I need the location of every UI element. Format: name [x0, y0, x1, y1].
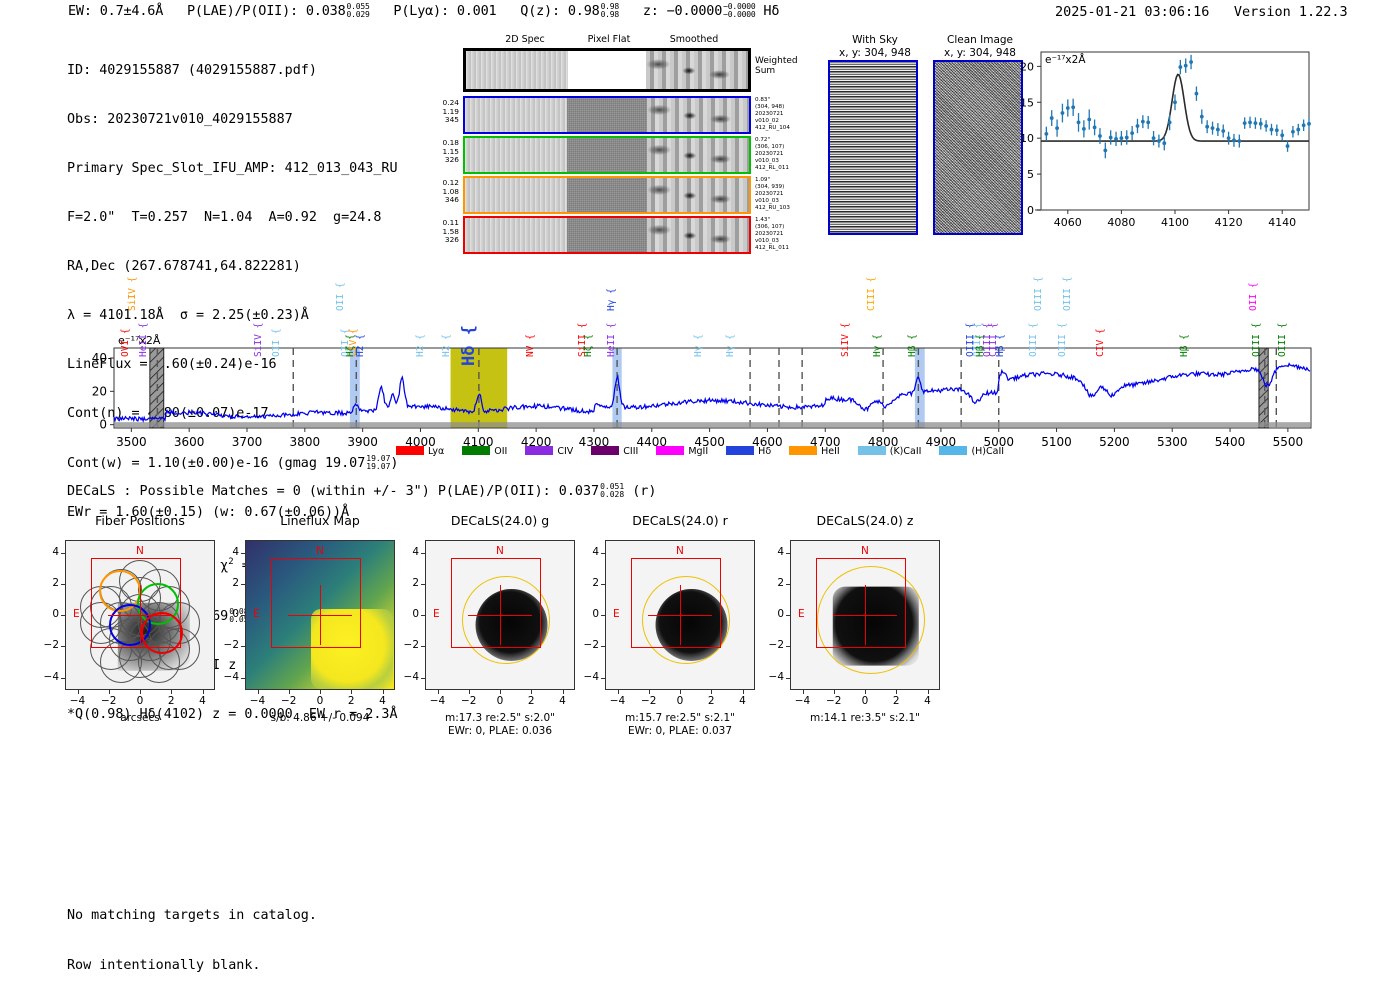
decals-header-band: (r): [632, 484, 656, 499]
with-sky-caption: With Skyx, y: 304, 948: [820, 34, 930, 59]
legend-label: HeII: [821, 446, 840, 457]
header-plae-value: 0.038: [306, 3, 346, 19]
y-tick-label: −2: [758, 639, 784, 651]
imaging-panel-title: DECaLS(24.0) z: [770, 513, 960, 528]
emission-line-label: OIII {: [1028, 323, 1039, 357]
x-tick-label: 2: [882, 695, 910, 707]
y-tick-label: 2: [758, 577, 784, 589]
x-tick-mark: [928, 690, 929, 694]
fiber-row: [463, 216, 751, 254]
y-tick-mark: [241, 615, 245, 616]
linefit-ytick: 20: [1020, 60, 1034, 73]
linefit-xtick: 4060: [1054, 216, 1082, 229]
emission-line-label: CIV {: [1095, 328, 1106, 357]
compass-east-label: E: [613, 608, 620, 620]
x-tick-mark: [320, 690, 321, 694]
legend-label: Lyα: [428, 446, 444, 457]
crosshair-center: [491, 606, 509, 624]
full-spectrum-plot: 0204035003600370038003900400041004200430…: [114, 280, 1311, 468]
decals-plae-bounds: 0.0510.028: [600, 483, 624, 499]
y-tick-mark: [601, 584, 605, 585]
x-tick-mark: [258, 690, 259, 694]
info-obs: Obs: 20230721v010_4029155887: [67, 112, 398, 128]
x-tick-mark: [618, 690, 619, 694]
header-z-value: −0.0000: [667, 3, 723, 19]
y-tick-label: 0: [213, 608, 239, 620]
legend-item: (K)CaII: [858, 446, 922, 457]
linefit-ytick: 0: [1027, 204, 1034, 217]
y-tick-label: 2: [393, 577, 419, 589]
fiber-row-meta: 0.72" (306, 107) 20230721 v010_03 412_RL…: [755, 137, 789, 172]
linefit-ytick: 10: [1020, 132, 1034, 145]
y-tick-mark: [421, 615, 425, 616]
x-tick-label: 0: [666, 695, 694, 707]
y-tick-mark: [61, 678, 65, 679]
header-qz-label: Q(z):: [520, 3, 560, 19]
legend-swatch: [939, 446, 967, 455]
header-z-bounds: −0.0000−0.0000: [723, 3, 755, 19]
timestamp: 2025-01-21 03:06:16: [1055, 4, 1209, 20]
fiber-row-meta: 0.83" (304, 948) 20230721 v010_02 412_RU…: [755, 97, 790, 132]
fiber-pixelflat-image: [567, 178, 647, 212]
y-tick-label: −2: [573, 639, 599, 651]
header-qz-value: 0.98: [568, 3, 600, 19]
compass-east-label: E: [73, 608, 80, 620]
x-tick-label: 2: [697, 695, 725, 707]
x-tick-label: 4: [729, 695, 757, 707]
ifu-footprint-box: [816, 558, 906, 648]
x-tick-label: 0: [306, 695, 334, 707]
legend-swatch: [789, 446, 817, 455]
ifu-footprint-box: [451, 558, 541, 648]
emission-line-label: CIII {: [866, 277, 877, 311]
legend-item: CIV: [525, 446, 573, 457]
header-timestamp-block: 2025-01-21 03:06:16 Version 1.22.3: [1055, 4, 1348, 20]
linefit-xtick: 4140: [1268, 216, 1296, 229]
x-tick-label: 0: [486, 695, 514, 707]
emission-line-label: Hβ {: [995, 334, 1006, 357]
compass-north-label: N: [316, 545, 324, 557]
masked-band: [1259, 348, 1268, 428]
x-tick-label: −2: [635, 695, 663, 707]
legend-swatch: [656, 446, 684, 455]
y-tick-label: −2: [393, 639, 419, 651]
x-tick-mark: [351, 690, 352, 694]
header-summary-line: EW: 0.7±4.6Å P(LAE)/P(OII): 0.0380.0550.…: [68, 3, 779, 19]
fiber-2dspec-image: [465, 178, 567, 212]
linefit-unit-label: e⁻¹⁷x2Å: [1045, 54, 1086, 66]
x-tick-label: 4: [914, 695, 942, 707]
fiber-row-values: 0.181.15326: [429, 139, 459, 165]
imaging-panel-title: Fiber Positions: [45, 513, 235, 528]
header-plae-bounds: 0.0550.029: [347, 3, 370, 19]
footer-note: No matching targets in catalog. Row inte…: [67, 875, 317, 991]
y-tick-mark: [421, 678, 425, 679]
x-tick-label: 4: [549, 695, 577, 707]
y-tick-label: 4: [393, 546, 419, 558]
y-tick-mark: [421, 553, 425, 554]
x-tick-label: 4: [369, 695, 397, 707]
y-tick-label: −2: [33, 639, 59, 651]
spectrum-ytick: 20: [92, 384, 107, 398]
x-tick-label: −4: [604, 695, 632, 707]
emission-line-label: OII {: [271, 328, 282, 357]
y-tick-mark: [61, 615, 65, 616]
y-tick-mark: [61, 584, 65, 585]
imaging-panel-title: Lineflux Map: [225, 513, 415, 528]
info-primary-spec: Primary Spec_Slot_IFU_AMP: 412_013_043_R…: [67, 161, 398, 177]
x-tick-label: 4: [189, 695, 217, 707]
emission-line-label: NV {: [525, 334, 536, 357]
emission-line-label: Hζ {: [583, 334, 594, 357]
emission-line-label: Hγ {: [693, 334, 704, 357]
legend-swatch: [726, 446, 754, 455]
x-tick-label: −2: [275, 695, 303, 707]
emission-line-label: H2 {: [441, 334, 452, 357]
y-tick-label: 4: [213, 546, 239, 558]
x-tick-mark: [649, 690, 650, 694]
emission-line-label: Hζ {: [345, 334, 356, 357]
x-tick-mark: [171, 690, 172, 694]
emission-line-label: Hβ {: [1179, 334, 1190, 357]
y-tick-mark: [786, 553, 790, 554]
legend-swatch: [858, 446, 886, 455]
fiber-smoothed-image: [647, 98, 749, 132]
emission-line-label: OIII {: [1057, 323, 1068, 357]
emission-line-label: SiIV {: [840, 323, 851, 357]
header-qz-bounds: 0.980.98: [601, 3, 619, 19]
fiber-row-meta: 1.09" (304, 939) 20230721 v010_03 412_RU…: [755, 177, 790, 212]
emission-line-label: OIII {: [1062, 277, 1073, 311]
x-tick-mark: [680, 690, 681, 694]
compass-north-label: N: [496, 545, 504, 557]
y-tick-mark: [601, 646, 605, 647]
with-sky-image: [828, 60, 918, 235]
emission-line-label: SiIV {: [127, 277, 138, 311]
emission-line-label: H2 {: [415, 334, 426, 357]
crosshair-center: [671, 606, 689, 624]
legend-label: (H)CaII: [971, 446, 1004, 457]
fiber-2dspec-image: [465, 138, 567, 172]
legend-item: HeII: [789, 446, 840, 457]
x-tick-label: −4: [64, 695, 92, 707]
header-z-label: z:: [643, 3, 659, 19]
imaging-panel-caption-1: m:15.7 re:2.5" s:2.1": [580, 712, 780, 725]
emission-line-label: OII {: [335, 282, 346, 311]
footer-line-1: No matching targets in catalog.: [67, 908, 317, 925]
col-header-smoothed: Smoothed: [653, 34, 735, 45]
x-tick-mark: [563, 690, 564, 694]
y-tick-label: 4: [573, 546, 599, 558]
y-tick-mark: [786, 584, 790, 585]
spectrum-ytick: 40: [92, 351, 107, 365]
crosshair-center: [856, 606, 874, 624]
fiber-row-values: 0.241.19345: [429, 99, 459, 125]
x-tick-mark: [469, 690, 470, 694]
y-tick-label: 2: [213, 577, 239, 589]
error-band: [114, 422, 1311, 427]
x-tick-label: −2: [455, 695, 483, 707]
emission-line-label: Hγ {: [606, 288, 617, 311]
x-tick-label: −4: [244, 695, 272, 707]
y-tick-label: 0: [573, 608, 599, 620]
fiber-row-value: 326: [429, 236, 459, 245]
legend-label: OII: [494, 446, 507, 457]
col-header-pixelflat: Pixel Flat: [569, 34, 649, 45]
fiber-2dspec-image: [465, 218, 567, 252]
fiber-row: [463, 136, 751, 174]
x-tick-mark: [383, 690, 384, 694]
y-tick-mark: [241, 678, 245, 679]
y-tick-mark: [241, 584, 245, 585]
crosshair-center: [311, 606, 329, 624]
x-tick-mark: [865, 690, 866, 694]
decals-header: DECaLS : Possible Matches = 0 (within +/…: [67, 483, 656, 499]
footer-line-2: Row intentionally blank.: [67, 958, 317, 975]
emission-line-label: OIII {: [1033, 277, 1044, 311]
fiber-smoothed-image: [647, 178, 749, 212]
x-tick-label: −2: [820, 695, 848, 707]
legend-swatch: [396, 446, 424, 455]
x-tick-label: −4: [789, 695, 817, 707]
y-tick-mark: [786, 615, 790, 616]
compass-north-label: N: [136, 545, 144, 557]
y-tick-label: 4: [33, 546, 59, 558]
fiber-row-value: 346: [429, 196, 459, 205]
compass-north-label: N: [861, 545, 869, 557]
emission-line-label: Hβ {: [975, 334, 986, 357]
legend-swatch: [525, 446, 553, 455]
ifu-footprint-box: [91, 558, 181, 648]
emission-line-label: OII {: [1248, 282, 1259, 311]
y-tick-label: 0: [393, 608, 419, 620]
x-tick-mark: [803, 690, 804, 694]
imaging-panel-caption-2: EWr: 0, PLAE: 0.036: [400, 725, 600, 738]
fiber-row-values: 0.111.58326: [429, 219, 459, 245]
legend-item: CIII: [591, 446, 638, 457]
x-tick-mark: [109, 690, 110, 694]
imaging-panel-title: DECaLS(24.0) g: [405, 513, 595, 528]
legend-label: Hδ: [758, 446, 771, 457]
x-tick-mark: [531, 690, 532, 694]
imaging-panel-xlabel: arcsecs: [45, 712, 235, 725]
version-label: Version 1.22.3: [1234, 4, 1348, 20]
x-tick-label: 0: [851, 695, 879, 707]
x-tick-label: −4: [424, 695, 452, 707]
compass-east-label: E: [253, 608, 260, 620]
weighted-sum-strip: [463, 48, 751, 92]
y-tick-label: 4: [758, 546, 784, 558]
x-tick-mark: [743, 690, 744, 694]
x-tick-mark: [140, 690, 141, 694]
y-tick-label: −4: [33, 671, 59, 683]
emission-line-label: Hγ {: [872, 334, 883, 357]
x-tick-mark: [896, 690, 897, 694]
legend-item: OII: [462, 446, 507, 457]
header-plae-label: P(LAE)/P(OII):: [187, 3, 298, 19]
imaging-panel-title: DECaLS(24.0) r: [585, 513, 775, 528]
spectrum-legend: LyαOIICIVCIIIMgIIHδHeII(K)CaII(H)CaII: [0, 446, 1400, 457]
ifu-footprint-box: [631, 558, 721, 648]
legend-label: MgII: [688, 446, 708, 457]
emission-line-label: OIII {: [1251, 323, 1262, 357]
compass-east-label: E: [798, 608, 805, 620]
y-tick-mark: [421, 584, 425, 585]
imaging-panel-row: Fiber PositionsNE−4−2024−4−2024arcsecsLi…: [0, 505, 1400, 735]
x-tick-label: 2: [517, 695, 545, 707]
x-tick-mark: [78, 690, 79, 694]
fiber-row: [463, 176, 751, 214]
emission-line-label: H2 {: [355, 334, 366, 357]
legend-item: Lyα: [396, 446, 444, 457]
info-radec: RA,Dec (267.678741,64.822281): [67, 259, 398, 275]
fiber-row-value: 345: [429, 116, 459, 125]
x-tick-label: 0: [126, 695, 154, 707]
line-band: [350, 348, 360, 428]
x-tick-mark: [500, 690, 501, 694]
emission-line-label: Hβ {: [907, 334, 918, 357]
info-id: ID: 4029155887 (4029155887.pdf): [67, 63, 398, 79]
y-tick-label: −2: [213, 639, 239, 651]
col-header-2dspec: 2D Spec: [485, 34, 565, 45]
compass-north-label: N: [676, 545, 684, 557]
fiber-smoothed-image: [647, 218, 749, 252]
fiber-pixelflat-image: [567, 218, 647, 252]
fiber-pixelflat-image: [567, 98, 647, 132]
legend-item: MgII: [656, 446, 708, 457]
fiber-pixelflat-image: [567, 138, 647, 172]
imaging-panel-caption-2: EWr: 0, PLAE: 0.037: [580, 725, 780, 738]
legend-label: CIV: [557, 446, 573, 457]
linefit-ytick: 5: [1027, 168, 1034, 181]
y-tick-mark: [421, 646, 425, 647]
x-tick-mark: [438, 690, 439, 694]
y-tick-mark: [601, 615, 605, 616]
y-tick-mark: [241, 553, 245, 554]
fiber-row-value: 326: [429, 156, 459, 165]
legend-item: Hδ: [726, 446, 771, 457]
y-tick-label: −4: [573, 671, 599, 683]
imaging-panel-caption-1: m:17.3 re:2.5" s:2.0": [400, 712, 600, 725]
y-tick-mark: [61, 646, 65, 647]
fiber-row-values: 0.121.08346: [429, 179, 459, 205]
y-tick-mark: [601, 553, 605, 554]
fiber-row-meta: 1.43" (306, 107) 20230721 v010_03 412_RL…: [755, 217, 789, 252]
linefit-xtick: 4120: [1215, 216, 1243, 229]
legend-item: (H)CaII: [939, 446, 1004, 457]
fiber-smoothed-image: [647, 138, 749, 172]
x-tick-mark: [711, 690, 712, 694]
imaging-panel-caption-1: m:14.1 re:3.5" s:2.1": [765, 712, 965, 725]
x-tick-label: 2: [157, 695, 185, 707]
y-tick-label: 0: [758, 608, 784, 620]
x-tick-mark: [289, 690, 290, 694]
info-seeing: F=2.0" T=0.257 N=1.04 A=0.92 g=24.8: [67, 210, 398, 226]
x-tick-label: 2: [337, 695, 365, 707]
line-band: [915, 348, 925, 428]
legend-swatch: [591, 446, 619, 455]
ifu-footprint-box: [271, 558, 361, 648]
decals-header-text: DECaLS : Possible Matches = 0 (within +/…: [67, 484, 599, 499]
y-tick-label: −4: [393, 671, 419, 683]
y-tick-mark: [61, 553, 65, 554]
spectrum-ytick: 0: [99, 418, 107, 432]
x-tick-label: −2: [95, 695, 123, 707]
y-tick-mark: [241, 646, 245, 647]
linefit-ytick: 15: [1020, 96, 1034, 109]
compass-east-label: E: [433, 608, 440, 620]
y-tick-mark: [601, 678, 605, 679]
linefit-xtick: 4100: [1161, 216, 1189, 229]
fiber-2dspec-image: [465, 98, 567, 132]
imaging-panel-caption-1: s/b: 4.86 +/- 0.094: [220, 712, 420, 725]
linefit-xtick: 4080: [1107, 216, 1135, 229]
emission-line-label: SiIV {: [253, 323, 264, 357]
crosshair-center: [131, 606, 149, 624]
y-tick-mark: [786, 678, 790, 679]
fiber-row: [463, 96, 751, 134]
legend-swatch: [462, 446, 490, 455]
y-tick-label: 2: [573, 577, 599, 589]
emission-line-label: HeII {: [138, 323, 149, 357]
header-ew: EW: 0.7±4.6Å: [68, 3, 163, 19]
emission-line-label: OIII {: [1277, 323, 1288, 357]
x-tick-mark: [834, 690, 835, 694]
weighted-sum-label: Weighted Sum: [755, 56, 798, 76]
y-tick-label: 0: [33, 608, 59, 620]
emission-line-label: Hγ {: [725, 334, 736, 357]
line-fit-plot: 0510152040604080410041204140e⁻¹⁷x2Å: [1041, 52, 1309, 210]
y-tick-label: −4: [758, 671, 784, 683]
legend-label: CIII: [623, 446, 638, 457]
legend-label: (K)CaII: [890, 446, 922, 457]
header-plya: P(Lyα): 0.001: [393, 3, 496, 19]
emission-line-label: OVI {: [120, 328, 131, 357]
emission-line-label: HeII {: [606, 323, 617, 357]
x-tick-mark: [203, 690, 204, 694]
y-tick-mark: [786, 646, 790, 647]
header-z-line: Hδ: [763, 3, 779, 19]
y-tick-label: −4: [213, 671, 239, 683]
y-tick-label: 2: [33, 577, 59, 589]
emission-line-label: Hδ {: [459, 325, 479, 366]
